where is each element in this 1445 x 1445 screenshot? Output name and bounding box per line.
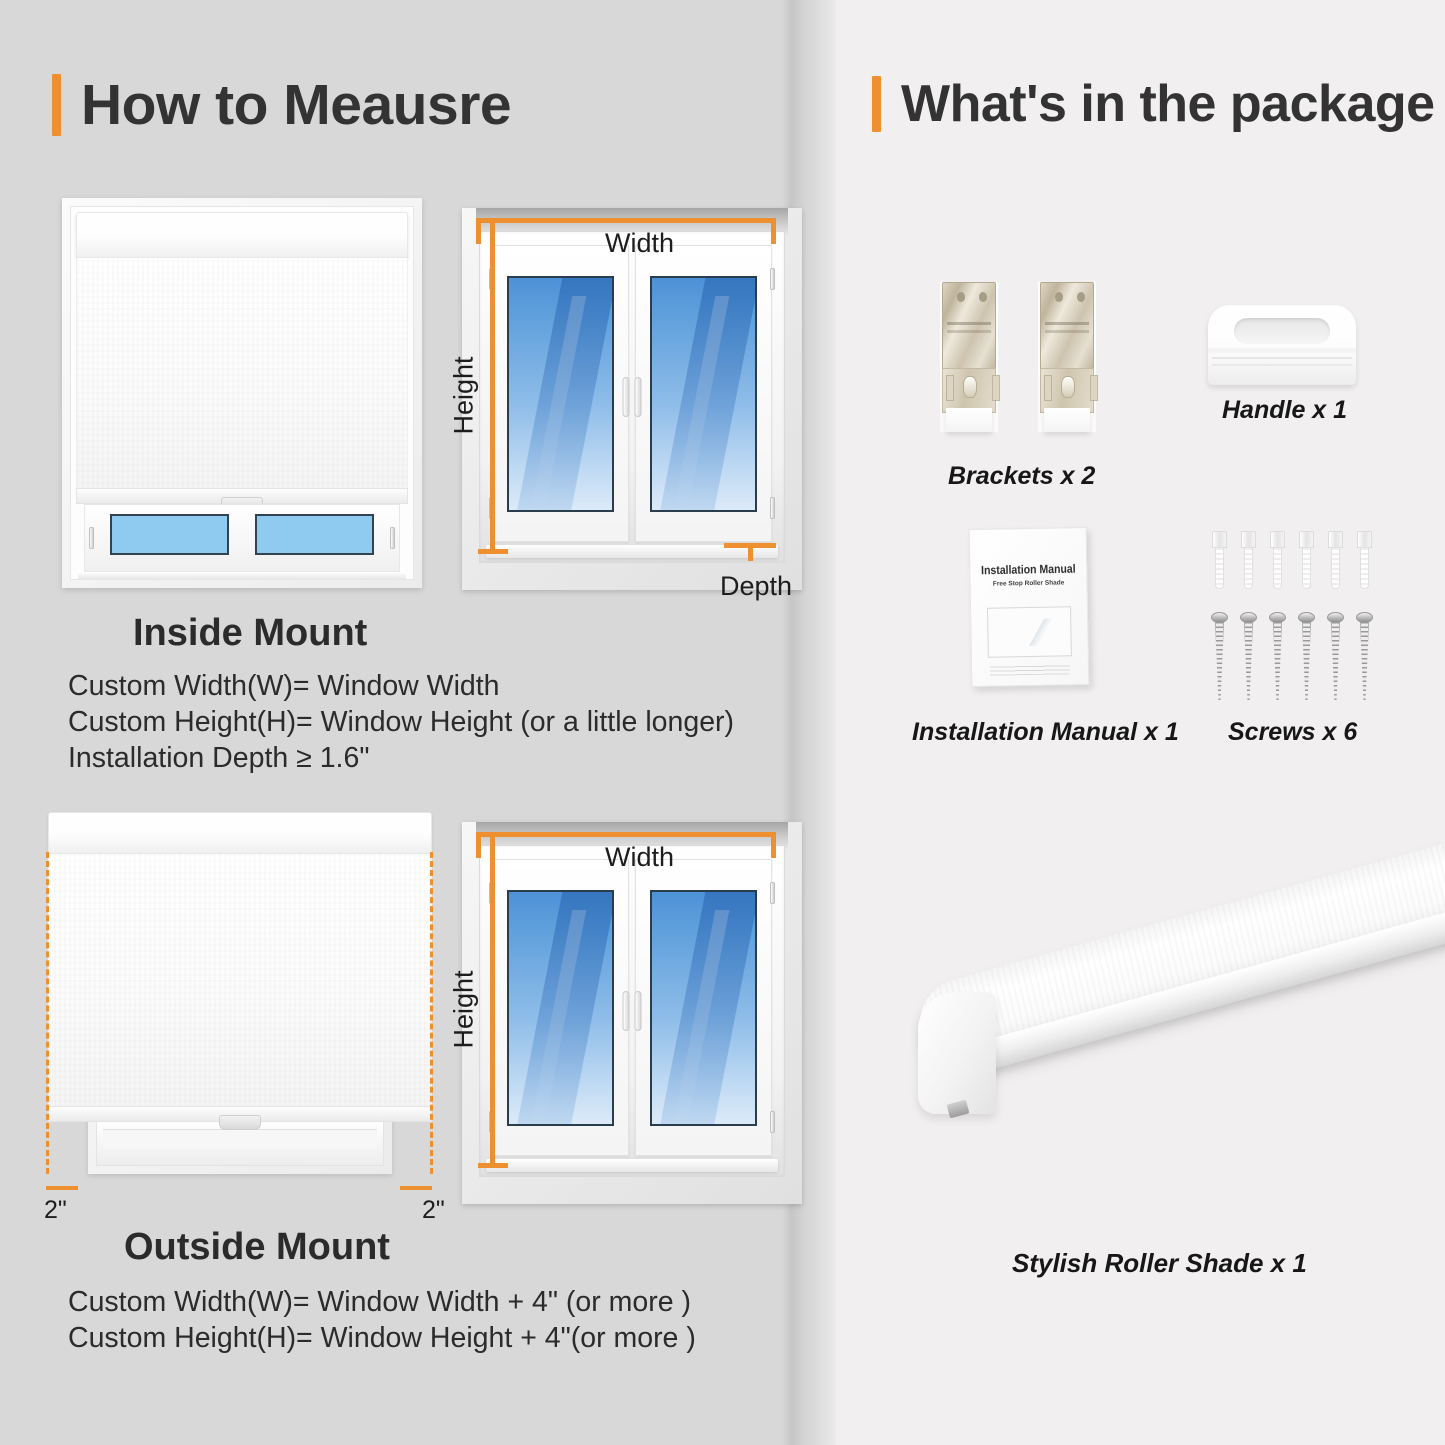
outside-mount-line-1: Custom Width(W)= Window Width + 4" (or m… <box>68 1286 691 1319</box>
depth-tick <box>748 543 753 561</box>
heading-label: How to Meausre <box>81 72 511 138</box>
overhang-label-right: 2" <box>422 1196 445 1225</box>
lower-sash-row <box>84 504 400 572</box>
window-sill <box>78 572 406 580</box>
window-sash-left <box>492 245 629 542</box>
hinge-icon <box>770 1111 775 1133</box>
inside-mount-shade-illustration <box>62 198 422 588</box>
wall-anchor-3 <box>1269 531 1286 589</box>
width-label: Width <box>605 228 674 259</box>
width-tick-right <box>771 832 776 858</box>
manual-cover-footer <box>990 664 1070 675</box>
package-contents-heading: What's in the package <box>872 74 1435 134</box>
wall-anchor-2 <box>1240 531 1257 589</box>
wall-anchor-4 <box>1298 531 1315 589</box>
overhang-guide-right <box>430 852 433 1174</box>
screw-3 <box>1269 612 1286 700</box>
installation-manual-label: Installation Manual x 1 <box>912 718 1179 747</box>
outside-mount-window-diagram: Width Height <box>462 822 802 1204</box>
roller-shade-label: Stylish Roller Shade x 1 <box>1012 1248 1307 1279</box>
width-tick-left <box>476 218 481 244</box>
height-label: Height <box>449 970 480 1048</box>
infographic-page: How to Meausre <box>0 0 1445 1445</box>
glass-pane-left <box>507 276 615 512</box>
glass-pane-right <box>650 890 758 1126</box>
window-frame <box>479 231 785 563</box>
manual-cover-title: Installation Manual <box>970 562 1086 578</box>
hinge-icon <box>89 527 94 549</box>
inside-mount-line-2: Custom Height(H)= Window Height (or a li… <box>68 706 734 739</box>
inside-mount-line-3: Installation Depth ≥ 1.6" <box>68 742 369 775</box>
glass-pane-right <box>650 276 758 512</box>
width-tick-left <box>476 832 481 858</box>
inside-mount-line-1: Custom Width(W)= Window Width <box>68 670 500 703</box>
bracket-item-2 <box>1038 282 1096 432</box>
outside-mount-line-2: Custom Height(H)= Window Height + 4"(or … <box>68 1322 696 1355</box>
wall-anchor-5 <box>1327 531 1344 589</box>
roller-shade-end-cap <box>918 992 996 1114</box>
handle-label: Handle x 1 <box>1222 396 1347 425</box>
screw-2 <box>1240 612 1257 700</box>
height-dimension-line <box>490 836 495 1166</box>
inside-mount-window-diagram: Width Height Depth <box>462 208 802 590</box>
window-sill <box>486 1159 778 1172</box>
height-tick-bottom <box>478 1163 508 1168</box>
outside-mount-title: Outside Mount <box>124 1226 390 1269</box>
screws-label: Screws x 6 <box>1228 718 1357 747</box>
accent-bar-icon <box>872 76 881 132</box>
window-frame <box>479 845 785 1177</box>
overhang-label-left: 2" <box>44 1196 67 1225</box>
hinge-icon <box>770 268 775 290</box>
handle-item <box>1208 305 1356 385</box>
shade-fabric <box>48 854 432 1114</box>
screw-4 <box>1298 612 1315 700</box>
roller-shade-product-image <box>900 880 1440 1210</box>
height-tick-bottom <box>478 549 508 554</box>
wall-anchor-1 <box>1211 531 1228 589</box>
width-dimension-line <box>476 832 776 837</box>
height-dimension-line <box>490 222 495 552</box>
depth-label: Depth <box>720 571 792 602</box>
glass-pane-left <box>507 890 615 1126</box>
outside-mount-shade-illustration <box>40 812 440 1192</box>
hinge-icon <box>770 882 775 904</box>
window-handles-icon <box>623 991 642 1031</box>
heading-label: What's in the package <box>901 74 1435 134</box>
window-sash-right <box>635 859 772 1156</box>
glass-pane-right <box>255 514 374 555</box>
shade-valance <box>48 812 432 854</box>
manual-cover-subtitle: Free Stop Roller Shade <box>971 579 1087 588</box>
shade-valance <box>76 212 408 258</box>
hinge-icon <box>770 497 775 519</box>
wall-anchor-6 <box>1356 531 1373 589</box>
overhang-tick-right <box>400 1186 432 1190</box>
installation-manual-item: Installation Manual Free Stop Roller Sha… <box>969 527 1090 687</box>
overhang-guide-left <box>46 852 49 1174</box>
window-sash-right <box>635 245 772 542</box>
overhang-tick-left <box>46 1186 78 1190</box>
height-label: Height <box>449 356 480 434</box>
screw-6 <box>1356 612 1373 700</box>
window-sash-left <box>492 859 629 1156</box>
shade-pull-handle <box>219 1115 261 1130</box>
width-tick-right <box>771 218 776 244</box>
glass-pane-left <box>110 514 229 555</box>
window-handles-icon <box>623 377 642 417</box>
hinge-icon <box>390 527 395 549</box>
screw-1 <box>1211 612 1228 700</box>
width-dimension-line <box>476 218 776 223</box>
bracket-item-1 <box>940 282 998 432</box>
brackets-label: Brackets x 2 <box>948 462 1095 491</box>
shade-fabric <box>76 258 408 496</box>
how-to-measure-heading: How to Meausre <box>52 72 511 138</box>
accent-bar-icon <box>52 74 61 136</box>
screw-5 <box>1327 612 1344 700</box>
width-label: Width <box>605 842 674 873</box>
manual-cover-figure <box>987 606 1072 657</box>
inside-mount-title: Inside Mount <box>133 612 367 655</box>
